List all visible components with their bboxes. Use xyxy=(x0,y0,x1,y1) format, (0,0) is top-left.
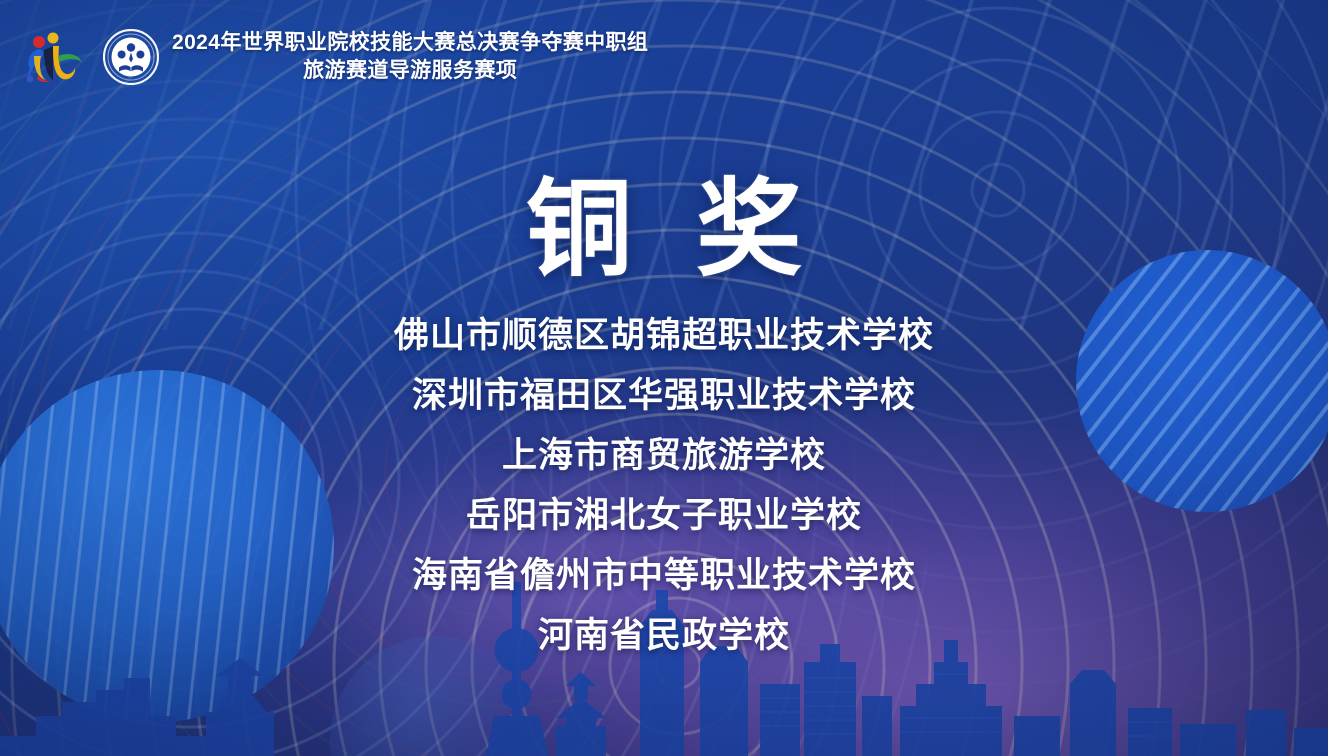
winners-list: 佛山市顺德区胡锦超职业技术学校 深圳市福田区华强职业技术学校 上海市商贸旅游学校… xyxy=(0,318,1328,653)
list-item: 岳阳市湘北女子职业学校 xyxy=(0,498,1328,533)
list-item: 佛山市顺德区胡锦超职业技术学校 xyxy=(0,318,1328,353)
page-title: 铜奖 xyxy=(0,178,1328,284)
header-title-line2: 旅游赛道导游服务赛项 xyxy=(172,57,648,85)
ict-colored-logo-icon xyxy=(22,26,90,88)
list-item: 上海市商贸旅游学校 xyxy=(0,438,1328,473)
competition-emblem-icon xyxy=(103,29,159,85)
list-item: 河南省民政学校 xyxy=(0,618,1328,653)
header-title-line1: 2024年世界职业院校技能大赛总决赛争夺赛中职组 xyxy=(172,31,648,54)
list-item: 海南省儋州市中等职业技术学校 xyxy=(0,558,1328,593)
header-title: 2024年世界职业院校技能大赛总决赛争夺赛中职组 旅游赛道导游服务赛项 xyxy=(172,29,648,84)
list-item: 深圳市福田区华强职业技术学校 xyxy=(0,378,1328,413)
award-slide: 2024年世界职业院校技能大赛总决赛争夺赛中职组 旅游赛道导游服务赛项 铜奖 佛… xyxy=(0,0,1328,756)
header: 2024年世界职业院校技能大赛总决赛争夺赛中职组 旅游赛道导游服务赛项 xyxy=(22,26,648,88)
